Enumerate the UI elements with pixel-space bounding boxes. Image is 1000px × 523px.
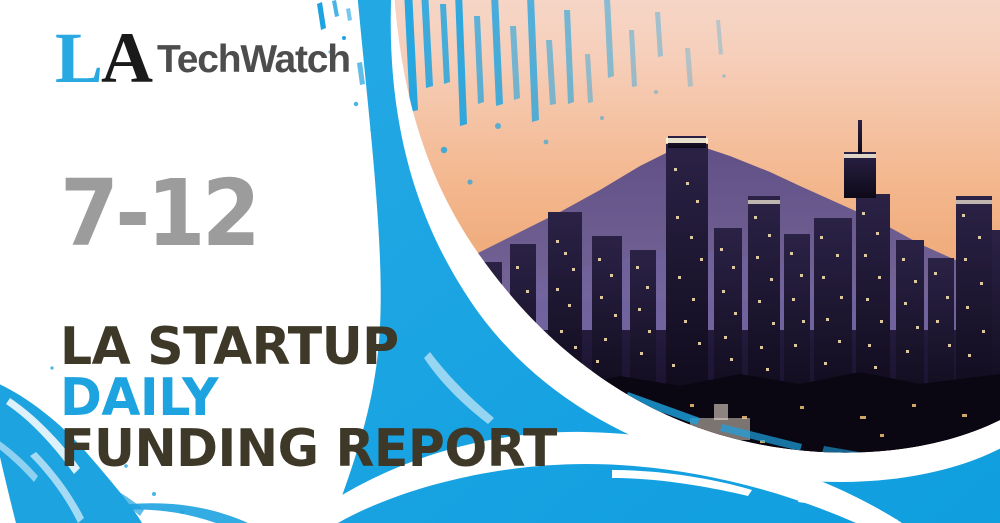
logo-letter-l: L: [55, 22, 101, 94]
issue-date: 7-12: [60, 168, 257, 260]
headline-line-1: LA STARTUP: [60, 322, 557, 373]
logo-letter-a: A: [101, 22, 151, 94]
la-techwatch-logo[interactable]: L A TechWatch: [55, 22, 350, 94]
headline-block: LA STARTUP DAILY FUNDING REPORT: [60, 322, 572, 475]
headline-line-2: DAILY: [60, 373, 557, 424]
la-techwatch-funding-report-poster: L A TechWatch 7-12 LA STARTUP DAILY FUND…: [0, 0, 1000, 523]
logo-wordmark: TechWatch: [157, 40, 350, 79]
headline-line-3: FUNDING REPORT: [60, 424, 557, 475]
